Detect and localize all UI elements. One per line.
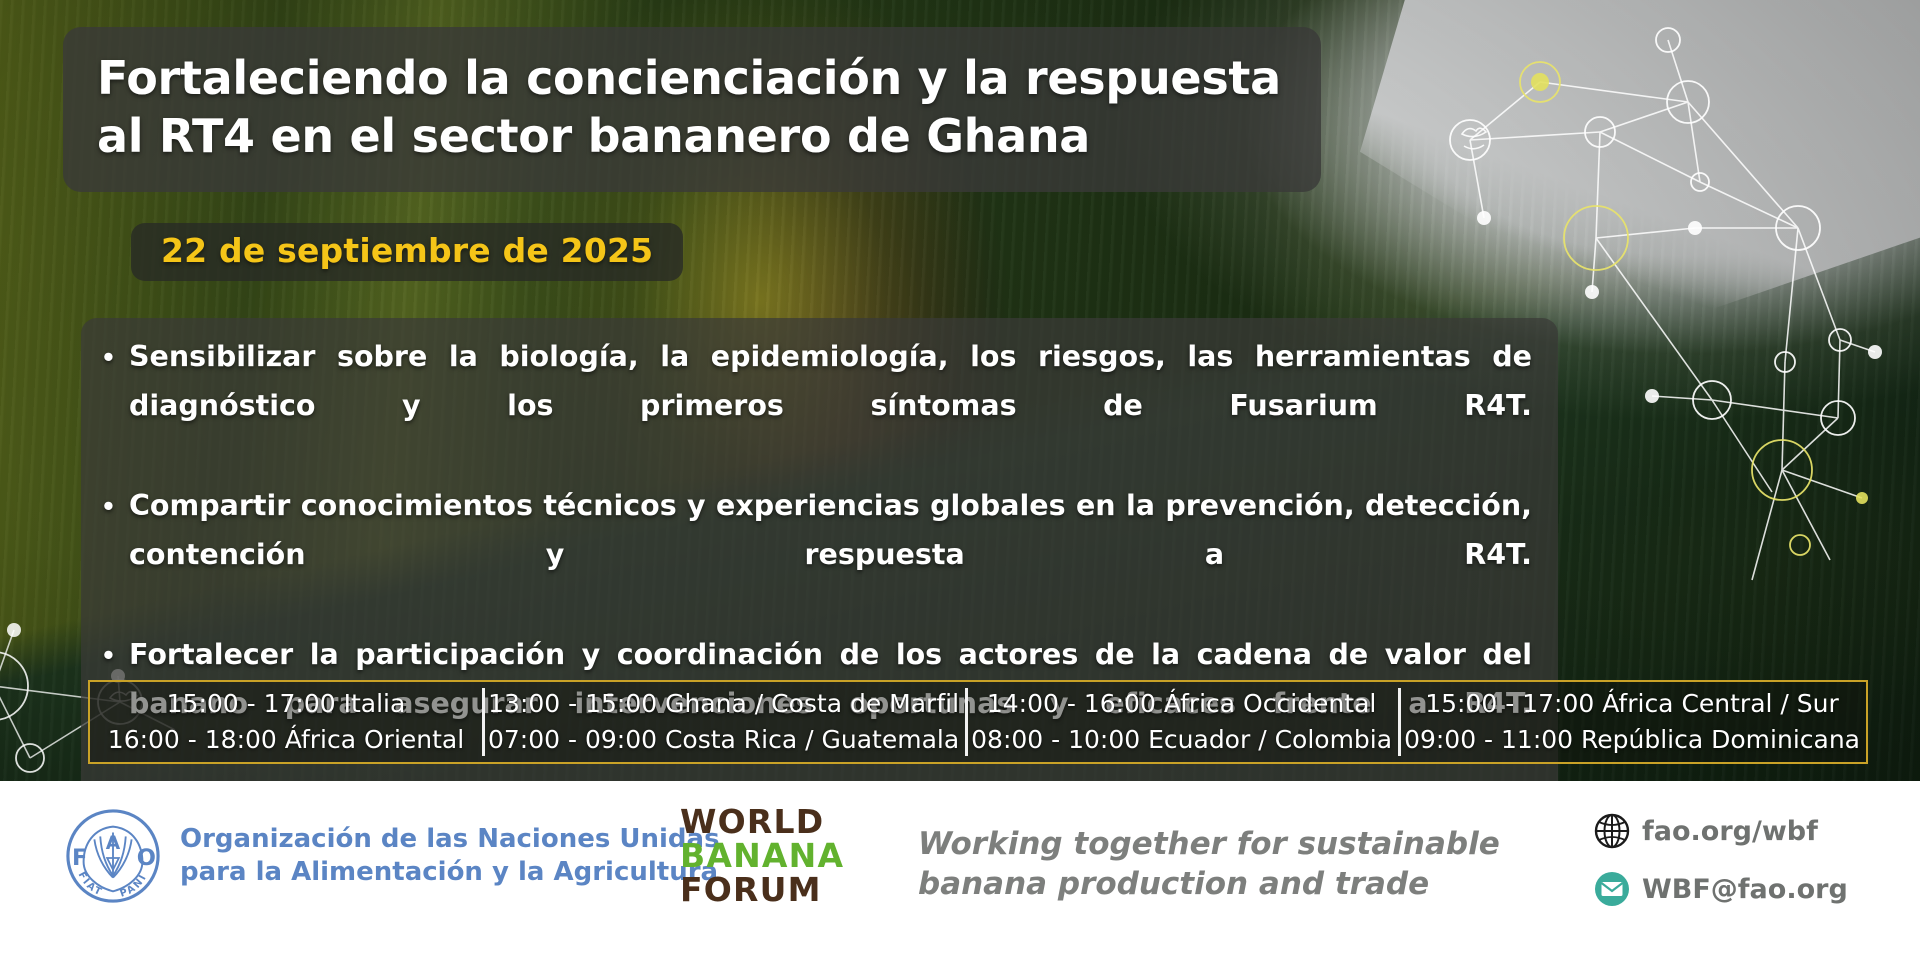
wbf-word-banana: BANANA bbox=[680, 839, 844, 873]
event-date-badge: 22 de septiembre de 2025 bbox=[131, 223, 683, 281]
timezone-cell: 15:00 - 17:00 Italia 16:00 - 18:00 Áfric… bbox=[90, 682, 482, 762]
wbf-tagline-line1: Working together for sustainable bbox=[918, 825, 1500, 865]
wbf-tagline: Working together for sustainable banana … bbox=[918, 825, 1500, 904]
contact-block: fao.org/wbf WBF@fao.org bbox=[1592, 811, 1848, 927]
bullet-icon: • bbox=[103, 332, 129, 381]
globe-icon bbox=[1592, 811, 1632, 851]
fao-name-line2: para la Alimentación y la Agricultura bbox=[180, 856, 720, 889]
timezone-line-primary: 15:00 - 17:00 África Central / Sur bbox=[1425, 686, 1839, 722]
wbf-tagline-line2: banana production and trade bbox=[918, 865, 1500, 905]
webinar-poster: Fortaleciendo la concienciación y la res… bbox=[0, 0, 1920, 960]
objective-item: • Compartir conocimientos técnicos y exp… bbox=[103, 481, 1532, 628]
wbf-word-world: WORLD bbox=[680, 805, 844, 839]
timezone-bar: 15:00 - 17:00 Italia 16:00 - 18:00 Áfric… bbox=[88, 680, 1868, 764]
timezone-line-secondary: 07:00 - 09:00 Costa Rica / Guatemala bbox=[488, 722, 959, 758]
timezone-line-secondary: 08:00 - 10:00 Ecuador / Colombia bbox=[971, 722, 1392, 758]
objective-text: Compartir conocimientos técnicos y exper… bbox=[129, 481, 1532, 628]
fao-emblem-letter-o: O bbox=[137, 845, 156, 871]
timezone-line-primary: 15:00 - 17:00 Italia bbox=[167, 686, 406, 722]
fao-emblem-letter-f: F bbox=[72, 845, 87, 871]
event-date-text: 22 de septiembre de 2025 bbox=[161, 231, 653, 270]
bullet-icon: • bbox=[103, 481, 129, 530]
page-title-line1: Fortaleciendo la concienciación y la res… bbox=[97, 50, 1287, 108]
email-link[interactable]: WBF@fao.org bbox=[1592, 869, 1848, 909]
timezone-cell: 15:00 - 17:00 África Central / Sur 09:00… bbox=[1398, 682, 1866, 762]
fao-logo-block: A F O FIAT PANIS Organización de las Nac… bbox=[64, 807, 720, 905]
email-address: WBF@fao.org bbox=[1642, 874, 1848, 905]
website-link[interactable]: fao.org/wbf bbox=[1592, 811, 1848, 851]
fao-name-line1: Organización de las Naciones Unidas bbox=[180, 823, 720, 856]
objective-item: • Sensibilizar sobre la biología, la epi… bbox=[103, 332, 1532, 479]
title-panel: Fortaleciendo la concienciación y la res… bbox=[63, 27, 1321, 192]
timezone-line-secondary: 09:00 - 11:00 República Dominicana bbox=[1404, 722, 1860, 758]
timezone-line-secondary: 16:00 - 18:00 África Oriental bbox=[108, 722, 464, 758]
world-banana-forum-logo: WORLD BANANA FORUM bbox=[680, 805, 844, 907]
bullet-icon: • bbox=[103, 630, 129, 679]
timezone-line-primary: 14:00 - 16:00 África Occidental bbox=[987, 686, 1376, 722]
hero-banner: Fortaleciendo la concienciación y la res… bbox=[0, 0, 1920, 781]
fao-emblem-letter-a: A bbox=[106, 833, 121, 854]
footer-bar: A F O FIAT PANIS Organización de las Nac… bbox=[0, 781, 1920, 960]
objective-text: Sensibilizar sobre la biología, la epide… bbox=[129, 332, 1532, 479]
timezone-cell: 13:00 - 15:00 Ghana / Costa de Marfil 07… bbox=[482, 682, 965, 762]
timezone-cell: 14:00 - 16:00 África Occidental 08:00 - … bbox=[965, 682, 1398, 762]
fao-emblem-icon: A F O FIAT PANIS bbox=[64, 807, 162, 905]
website-url: fao.org/wbf bbox=[1642, 816, 1818, 847]
timezone-line-primary: 13:00 - 15:00 Ghana / Costa de Marfil bbox=[488, 686, 959, 722]
fao-organization-name: Organización de las Naciones Unidas para… bbox=[180, 823, 720, 890]
wbf-word-forum: FORUM bbox=[680, 873, 844, 907]
page-title-line2: al RT4 en el sector bananero de Ghana bbox=[97, 108, 1287, 166]
envelope-icon bbox=[1592, 869, 1632, 909]
